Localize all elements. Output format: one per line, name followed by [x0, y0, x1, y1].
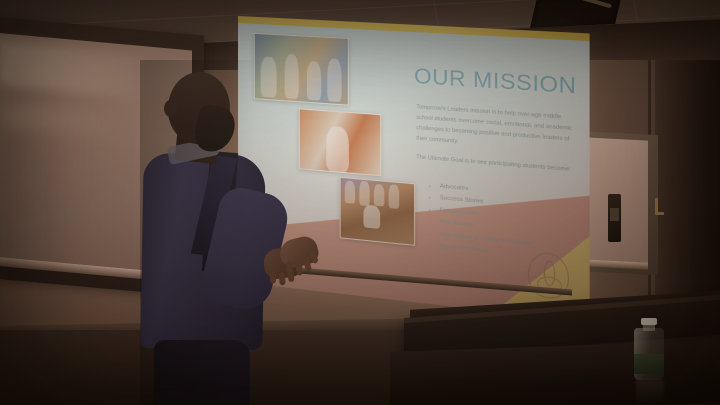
- classroom-presentation-photo: OUR MISSION Tomorrow's Leaders mission i…: [0, 0, 720, 405]
- water-bottle: [634, 318, 664, 380]
- wall-mark: [690, 252, 697, 261]
- wall-mounted-phone[interactable]: [608, 194, 621, 242]
- slide-photo-3: [340, 177, 416, 246]
- presenter-beard: [192, 103, 237, 155]
- slide-bullet-list: Advocates Success Stories Entrepreneurs …: [429, 180, 532, 262]
- presenter: [140, 60, 330, 405]
- bottle-cap: [641, 318, 657, 325]
- bottle-label: [634, 354, 664, 374]
- slide-title: OUR MISSION: [414, 64, 577, 100]
- slide-paragraph-2: The Ultimate Goal is to see participatin…: [416, 152, 580, 176]
- slide-paragraph-1: Tomorrow's Leaders mission is to help ov…: [416, 102, 580, 156]
- conference-table-front: [390, 340, 720, 405]
- presenter-trousers: [154, 340, 250, 405]
- phone-keypad: [610, 208, 619, 221]
- coat-hook-arm: [655, 212, 664, 215]
- presenter-ear: [164, 100, 177, 117]
- bottle-reflection: [636, 380, 664, 405]
